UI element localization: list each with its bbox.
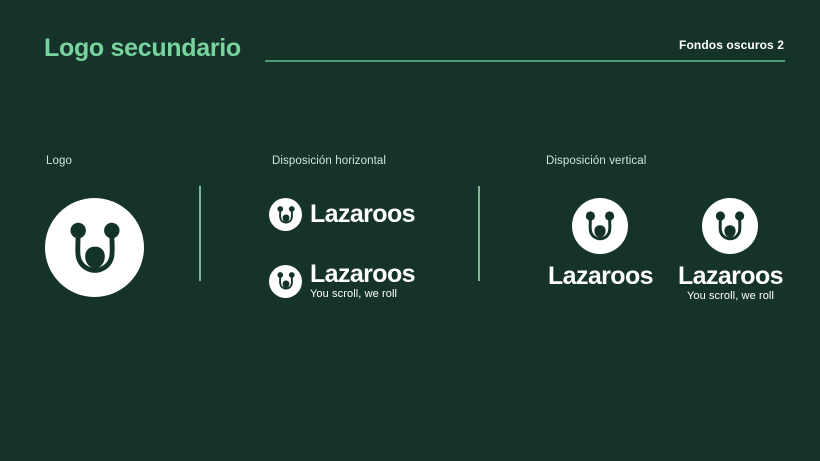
header-rule <box>265 60 785 62</box>
caption-logo: Logo <box>46 155 72 167</box>
caption-horizontal: Disposición horizontal <box>272 155 386 167</box>
wordblock: Lazaroos <box>310 202 415 228</box>
tagline: You scroll, we roll <box>678 290 783 303</box>
panda-face-icon <box>702 198 758 254</box>
wordblock: Lazaroos You scroll, we roll <box>310 262 415 301</box>
wordblock: Lazaroos <box>548 264 653 290</box>
wordmark: Lazaroos <box>548 264 653 290</box>
wordmark: Lazaroos <box>310 262 415 288</box>
panda-face-icon <box>572 198 628 254</box>
lockup-horizontal-plain: Lazaroos <box>269 198 415 231</box>
lockup-horizontal-tagline: Lazaroos You scroll, we roll <box>269 262 415 301</box>
wordmark: Lazaroos <box>310 202 415 228</box>
panda-face-icon <box>269 198 302 231</box>
panda-face-icon <box>269 265 302 298</box>
header-section-label: Fondos oscuros 2 <box>679 38 784 52</box>
wordmark: Lazaroos <box>678 264 783 290</box>
caption-vertical: Disposición vertical <box>546 155 646 167</box>
tagline: You scroll, we roll <box>310 288 415 301</box>
section-divider-1 <box>199 186 201 281</box>
page-title: Logo secundario <box>44 34 241 63</box>
lockup-vertical-tagline: Lazaroos You scroll, we roll <box>678 198 783 303</box>
section-divider-2 <box>478 186 480 281</box>
slide-canvas: Logo secundario Fondos oscuros 2 Logo Di… <box>0 0 820 461</box>
lockup-vertical-plain: Lazaroos <box>548 198 653 290</box>
wordblock: Lazaroos You scroll, we roll <box>678 264 783 303</box>
panda-face-icon <box>45 198 144 297</box>
